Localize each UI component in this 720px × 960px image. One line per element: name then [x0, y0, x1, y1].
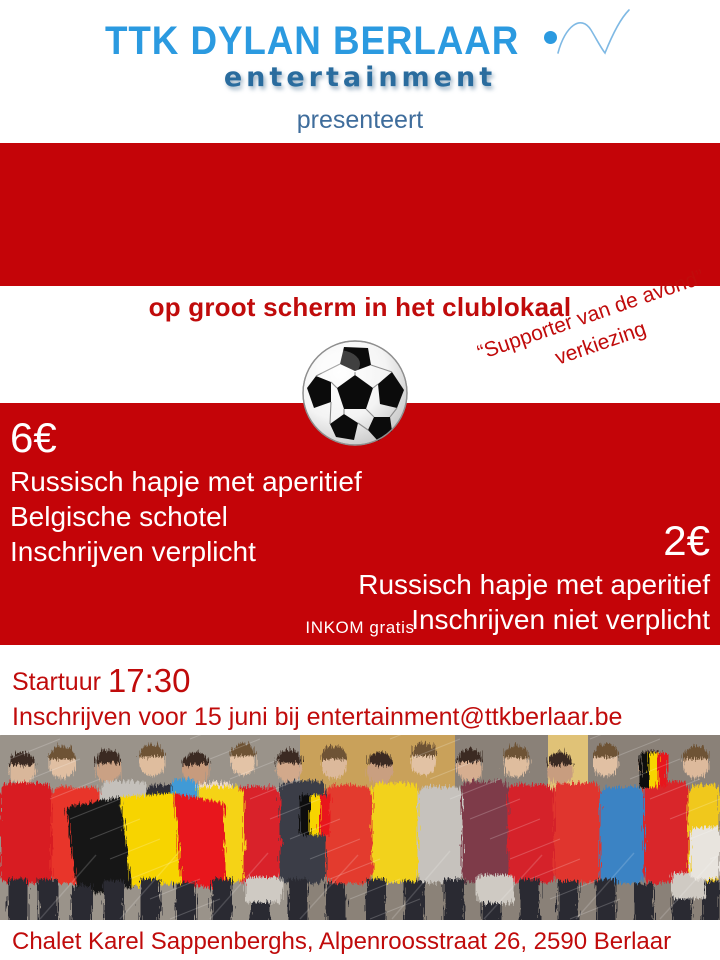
soccer-ball-icon [300, 338, 410, 448]
price-right-line-1: Russisch hapje met aperitief [230, 567, 710, 602]
poster-header: TTK DYLAN BERLAAR entertainment presente… [0, 0, 720, 143]
brand-tagline-text: entertainment [224, 62, 496, 93]
start-time-label: Startuur [12, 668, 101, 696]
price-right-amount: 2€ [230, 518, 710, 564]
presenteert-label: presenteert [0, 106, 720, 135]
start-time-value: 17:30 [108, 662, 191, 699]
event-poster: TTK DYLAN BERLAAR entertainment presente… [0, 0, 720, 960]
venue-address: Chalet Karel Sappenberghs, Alpenroosstra… [12, 928, 671, 956]
checkmark-swoosh-icon [555, 8, 633, 63]
brand-tagline: entertainment [0, 62, 720, 93]
date-banner: Zo 22 juni 2014 België - Rusland [0, 143, 720, 286]
price-left-line-1: Russisch hapje met aperitief [10, 464, 440, 499]
crowd-photo [0, 735, 720, 920]
entrance-fee-note: INKOM gratis [0, 618, 720, 638]
brand-logo-text: TTK DYLAN BERLAAR [105, 21, 519, 61]
start-time-row: Startuur 17:30 [12, 662, 190, 700]
signup-instructions: Inschrijven voor 15 juni bij entertainme… [12, 703, 622, 732]
